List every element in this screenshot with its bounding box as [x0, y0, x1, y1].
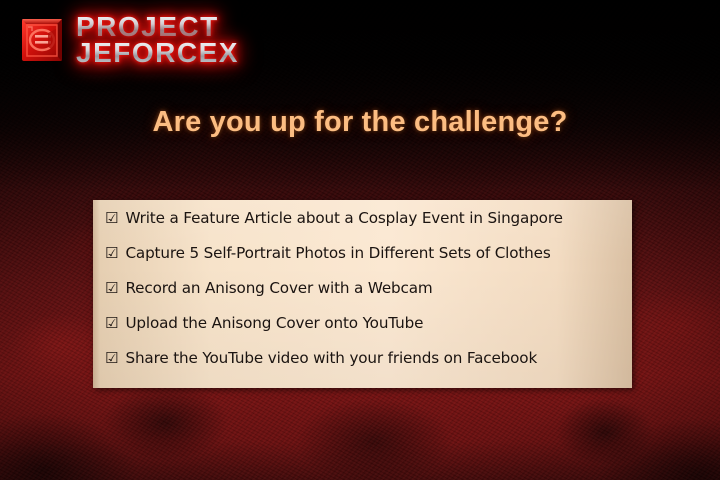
list-item[interactable]: ☑ Upload the Anisong Cover onto YouTube [105, 314, 622, 349]
list-item[interactable]: ☑ Capture 5 Self-Portrait Photos in Diff… [105, 244, 622, 279]
list-item-label: Write a Feature Article about a Cosplay … [125, 209, 562, 227]
checked-box-icon: ☑ [105, 246, 118, 261]
presentation-slide: PROJECT JEFORCEX Are you up for the chal… [0, 0, 720, 480]
list-item[interactable]: ☑ Share the YouTube video with your frie… [105, 349, 622, 384]
list-item-label: Capture 5 Self-Portrait Photos in Differ… [125, 244, 550, 262]
list-item[interactable]: ☑ Write a Feature Article about a Cospla… [105, 209, 622, 244]
checked-box-icon: ☑ [105, 211, 118, 226]
brand-logo: PROJECT JEFORCEX [18, 14, 239, 66]
brand-wordmark: PROJECT JEFORCEX [76, 14, 239, 66]
checked-box-icon: ☑ [105, 316, 118, 331]
list-item-label: Upload the Anisong Cover onto YouTube [125, 314, 423, 332]
slide-title: Are you up for the challenge? [0, 106, 720, 139]
list-item[interactable]: ☑ Record an Anisong Cover with a Webcam [105, 279, 622, 314]
brand-line-jeforcex: JEFORCEX [76, 40, 239, 66]
jeforcex-emblem-icon [18, 15, 68, 65]
checklist-panel: ☑ Write a Feature Article about a Cospla… [93, 200, 632, 388]
checked-box-icon: ☑ [105, 281, 118, 296]
checked-box-icon: ☑ [105, 351, 118, 366]
list-item-label: Record an Anisong Cover with a Webcam [125, 279, 432, 297]
list-item-label: Share the YouTube video with your friend… [125, 349, 537, 367]
challenge-checklist: ☑ Write a Feature Article about a Cospla… [105, 209, 622, 384]
